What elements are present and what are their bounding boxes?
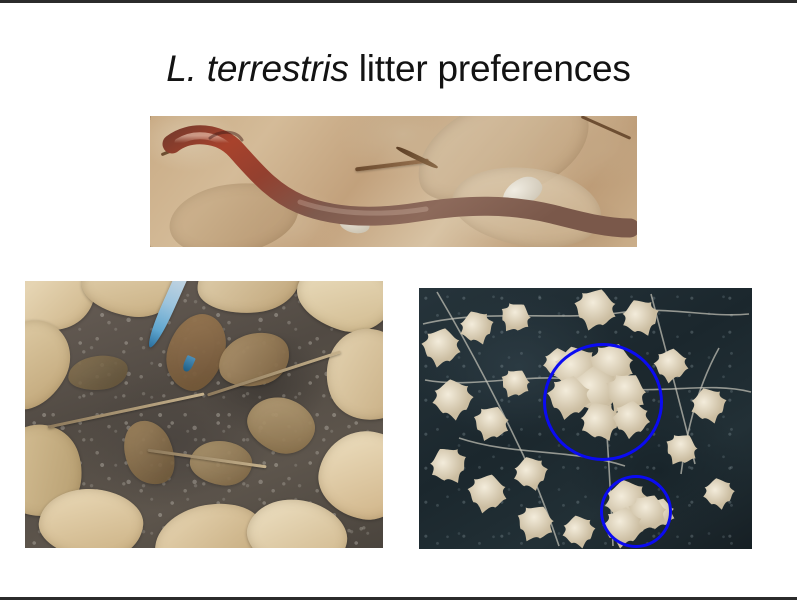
earthworm-shape: [150, 116, 637, 247]
slide-canvas: L. terrestris litter preferences: [0, 0, 797, 600]
title-remainder: litter preferences: [349, 48, 631, 89]
title-species-name: L. terrestris: [166, 48, 348, 89]
oak-photo: [419, 288, 752, 549]
midden-photo: [25, 281, 383, 548]
page-title: L. terrestris litter preferences: [0, 47, 797, 91]
worm-photo: [150, 116, 637, 247]
annotation-circle-small: [600, 475, 672, 548]
annotation-circle-large: [543, 343, 663, 461]
